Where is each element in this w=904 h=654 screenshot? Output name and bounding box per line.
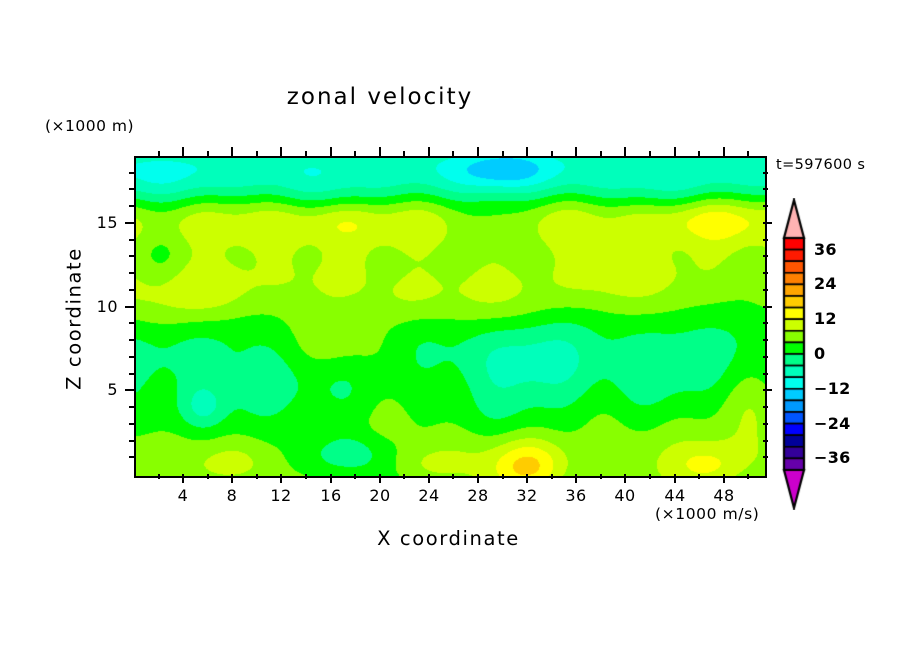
colorbar-tick-label: −12 <box>814 379 851 398</box>
y-minor-tick-left <box>129 440 134 442</box>
x-major-tick-bottom <box>624 474 626 483</box>
x-major-tick-top <box>477 147 479 156</box>
y-minor-tick-left <box>129 356 134 358</box>
x-minor-tick-top <box>698 151 700 156</box>
y-minor-tick-left <box>129 239 134 241</box>
x-minor-tick-bottom <box>600 474 602 479</box>
y-minor-tick-right <box>763 239 768 241</box>
colorbar-canvas <box>781 198 807 510</box>
x-major-tick-bottom <box>330 474 332 483</box>
y-minor-tick-right <box>763 423 768 425</box>
x-minor-tick-top <box>600 151 602 156</box>
y-minor-tick-left <box>129 456 134 458</box>
x-minor-tick-bottom <box>403 474 405 479</box>
x-major-tick-top <box>674 147 676 156</box>
y-axis-title: Z coordinate <box>63 199 86 439</box>
x-minor-tick-bottom <box>551 474 553 479</box>
x-tick-label: 28 <box>458 486 498 505</box>
x-minor-tick-bottom <box>747 474 749 479</box>
x-major-tick-top <box>280 147 282 156</box>
y-major-tick-left <box>125 389 134 391</box>
y-minor-tick-right <box>763 406 768 408</box>
x-tick-label: 4 <box>163 486 203 505</box>
x-tick-label: 24 <box>409 486 449 505</box>
y-major-tick-right <box>763 306 772 308</box>
x-major-tick-top <box>526 147 528 156</box>
x-tick-label: 40 <box>605 486 645 505</box>
x-major-tick-bottom <box>723 474 725 483</box>
x-major-tick-top <box>428 147 430 156</box>
x-major-tick-top <box>231 147 233 156</box>
x-minor-tick-top <box>551 151 553 156</box>
colorbar-tick-label: 36 <box>814 240 837 259</box>
colorbar-tick-label: 0 <box>814 344 825 363</box>
y-major-tick-left <box>125 222 134 224</box>
page-title: zonal velocity <box>0 84 760 110</box>
x-major-tick-bottom <box>477 474 479 483</box>
contour-field-canvas <box>136 158 765 476</box>
y-minor-tick-right <box>763 456 768 458</box>
x-tick-label: 44 <box>655 486 695 505</box>
x-major-tick-bottom <box>674 474 676 483</box>
y-minor-tick-right <box>763 356 768 358</box>
x-tick-label: 32 <box>507 486 547 505</box>
x-major-tick-bottom <box>379 474 381 483</box>
x-minor-tick-bottom <box>158 474 160 479</box>
y-minor-tick-left <box>129 289 134 291</box>
x-minor-tick-bottom <box>207 474 209 479</box>
y-major-tick-left <box>125 306 134 308</box>
x-minor-tick-top <box>158 151 160 156</box>
colorbar <box>781 198 807 510</box>
y-minor-tick-left <box>129 406 134 408</box>
x-major-tick-bottom <box>280 474 282 483</box>
y-tick-label: 10 <box>82 297 118 316</box>
y-minor-tick-left <box>129 188 134 190</box>
colorbar-tick-label: 12 <box>814 309 837 328</box>
x-axis-title: X coordinate <box>134 527 763 550</box>
x-major-tick-bottom <box>231 474 233 483</box>
y-major-tick-right <box>763 389 772 391</box>
x-major-tick-bottom <box>526 474 528 483</box>
contour-figure: zonal velocity (×1000 m) t=597600 s 4812… <box>0 0 904 654</box>
y-minor-tick-left <box>129 373 134 375</box>
x-major-tick-top <box>182 147 184 156</box>
x-minor-tick-top <box>207 151 209 156</box>
y-minor-tick-right <box>763 255 768 257</box>
y-minor-tick-right <box>763 272 768 274</box>
x-minor-tick-bottom <box>354 474 356 479</box>
colorbar-tick-label: −36 <box>814 448 851 467</box>
y-minor-tick-right <box>763 172 768 174</box>
x-minor-tick-top <box>747 151 749 156</box>
x-minor-tick-bottom <box>502 474 504 479</box>
y-axis-units-label: (×1000 m) <box>45 117 134 135</box>
x-minor-tick-top <box>403 151 405 156</box>
y-minor-tick-left <box>129 172 134 174</box>
x-major-tick-top <box>379 147 381 156</box>
colorbar-units-label: (×1000 m/s) <box>655 505 759 523</box>
x-major-tick-top <box>575 147 577 156</box>
x-minor-tick-bottom <box>256 474 258 479</box>
y-minor-tick-left <box>129 205 134 207</box>
timestamp-label: t=597600 s <box>776 157 865 173</box>
x-minor-tick-bottom <box>649 474 651 479</box>
plot-area <box>134 156 767 478</box>
y-major-tick-right <box>763 222 772 224</box>
x-tick-label: 48 <box>704 486 744 505</box>
x-tick-label: 20 <box>360 486 400 505</box>
y-minor-tick-right <box>763 440 768 442</box>
y-minor-tick-left <box>129 255 134 257</box>
colorbar-tick-label: 24 <box>814 274 837 293</box>
colorbar-tick-label: −24 <box>814 414 851 433</box>
y-tick-label: 5 <box>82 380 118 399</box>
x-minor-tick-top <box>354 151 356 156</box>
x-minor-tick-top <box>502 151 504 156</box>
x-minor-tick-top <box>452 151 454 156</box>
x-tick-label: 12 <box>261 486 301 505</box>
y-minor-tick-right <box>763 322 768 324</box>
y-minor-tick-right <box>763 373 768 375</box>
x-major-tick-top <box>330 147 332 156</box>
x-major-tick-bottom <box>575 474 577 483</box>
x-minor-tick-bottom <box>698 474 700 479</box>
y-minor-tick-right <box>763 205 768 207</box>
y-minor-tick-left <box>129 272 134 274</box>
y-tick-label: 15 <box>82 213 118 232</box>
x-major-tick-top <box>723 147 725 156</box>
x-minor-tick-top <box>305 151 307 156</box>
x-major-tick-top <box>624 147 626 156</box>
y-minor-tick-right <box>763 289 768 291</box>
x-tick-label: 8 <box>212 486 252 505</box>
y-minor-tick-left <box>129 339 134 341</box>
x-major-tick-bottom <box>428 474 430 483</box>
x-minor-tick-bottom <box>305 474 307 479</box>
y-minor-tick-left <box>129 423 134 425</box>
x-major-tick-bottom <box>182 474 184 483</box>
x-tick-label: 36 <box>556 486 596 505</box>
x-minor-tick-top <box>256 151 258 156</box>
y-minor-tick-right <box>763 339 768 341</box>
y-minor-tick-left <box>129 322 134 324</box>
x-minor-tick-top <box>649 151 651 156</box>
x-tick-label: 16 <box>311 486 351 505</box>
x-minor-tick-bottom <box>452 474 454 479</box>
y-minor-tick-right <box>763 188 768 190</box>
